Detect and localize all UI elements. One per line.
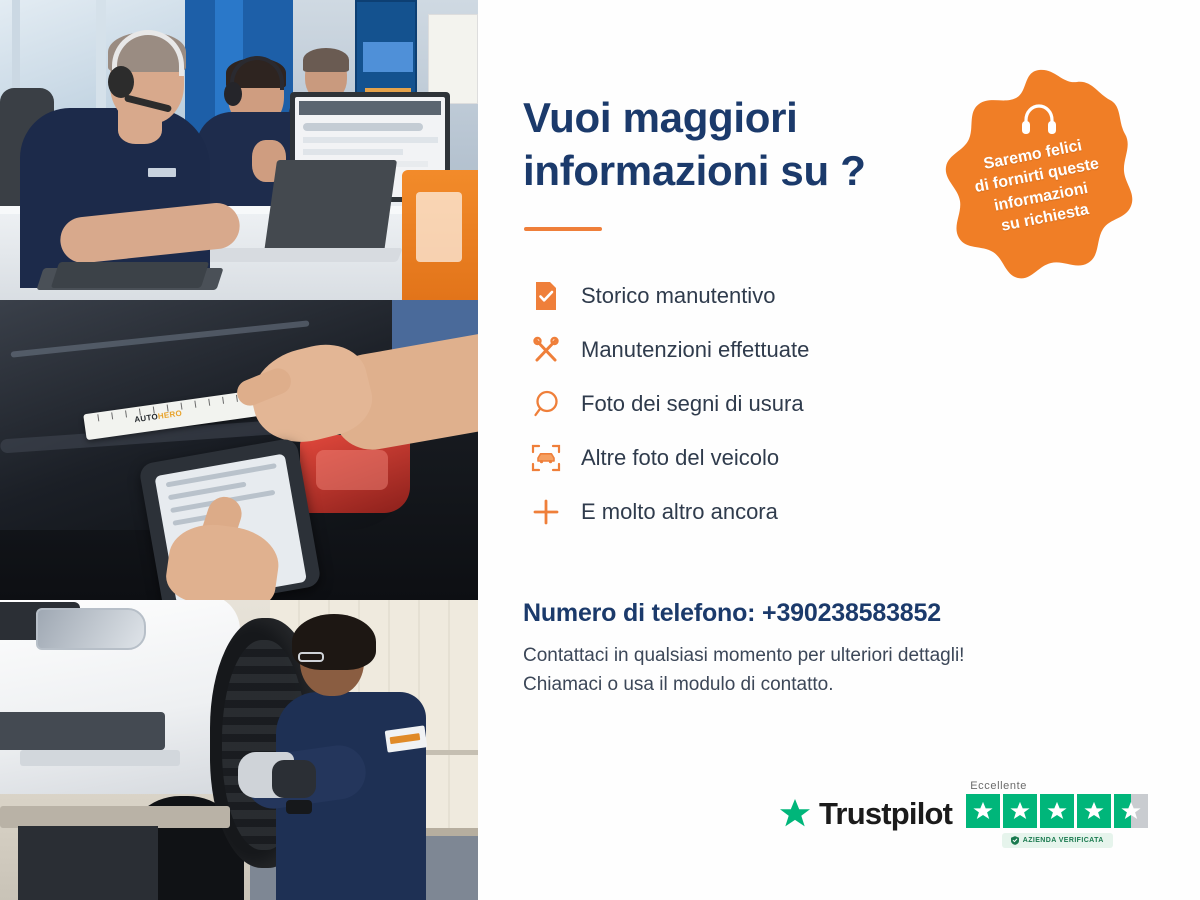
photo-call-center bbox=[0, 0, 478, 300]
headline-line-2: informazioni su ? bbox=[523, 147, 866, 194]
car-bumper-trim bbox=[20, 750, 180, 766]
feature-item-altre-foto: Altre foto del veicolo bbox=[523, 431, 1200, 485]
shield-check-icon bbox=[1011, 836, 1019, 845]
star-half bbox=[1114, 794, 1148, 828]
safety-glasses bbox=[298, 652, 324, 662]
wrist-watch bbox=[286, 800, 312, 814]
tail-light-glow bbox=[316, 450, 388, 490]
feature-label: Altre foto del veicolo bbox=[569, 445, 779, 471]
ruler-brand-hero: HERO bbox=[157, 409, 182, 421]
vehicle-lift-arm bbox=[0, 806, 230, 828]
star-full bbox=[1077, 794, 1111, 828]
promo-banner: AUTOHERO bbox=[0, 0, 1200, 900]
feature-label: Manutenzioni effettuate bbox=[569, 337, 809, 363]
feature-label: Foto dei segni di usura bbox=[569, 391, 804, 417]
wall-notice bbox=[428, 14, 478, 104]
document-check-icon bbox=[523, 281, 569, 311]
ruler-brand-auto: AUTO bbox=[134, 412, 159, 424]
agent-body bbox=[20, 108, 210, 288]
trustpilot-wordmark: Trustpilot bbox=[819, 796, 952, 832]
trustpilot-block[interactable]: Trustpilot Eccellente AZIENDA VERIFICA bbox=[778, 780, 1148, 848]
mechanic-glove bbox=[272, 760, 316, 798]
car-headlight bbox=[36, 608, 146, 650]
laptop-screen bbox=[263, 160, 397, 260]
star-full bbox=[1003, 794, 1037, 828]
orange-equipment bbox=[402, 170, 478, 300]
verified-company-badge: AZIENDA VERIFICATA bbox=[1002, 833, 1113, 848]
feature-item-altro: E molto altro ancora bbox=[523, 485, 1200, 539]
polo-logo bbox=[148, 168, 176, 177]
verified-label: AZIENDA VERIFICATA bbox=[1023, 837, 1104, 844]
feature-item-foto-usura: Foto dei segni di usura bbox=[523, 377, 1200, 431]
page-title: Vuoi maggiori informazioni su ? bbox=[523, 92, 953, 197]
photo-wheel-inspection bbox=[0, 600, 478, 900]
headset-earcup bbox=[108, 66, 134, 98]
car-scan-icon bbox=[523, 443, 569, 473]
feature-label: E molto altro ancora bbox=[569, 499, 778, 525]
contact-line-2: Chiamaci o usa il modulo di contatto. bbox=[523, 674, 834, 695]
keyboard bbox=[51, 262, 209, 288]
info-on-request-badge: Saremo felici di fornirti queste informa… bbox=[938, 66, 1140, 292]
plus-icon bbox=[523, 497, 569, 527]
laptop-base bbox=[197, 248, 403, 262]
headline-line-1: Vuoi maggiori bbox=[523, 94, 798, 141]
tools-icon bbox=[523, 335, 569, 365]
headset-icon bbox=[1019, 102, 1059, 138]
star-rating bbox=[966, 794, 1148, 828]
contact-line-1: Contattaci in qualsiasi momento per ulte… bbox=[523, 645, 964, 666]
car-lower-grille bbox=[0, 712, 165, 750]
phone-number-label[interactable]: Numero di telefono: +390238583852 bbox=[523, 599, 1200, 628]
feature-list: Storico manutentivo Manutenzioni effettu… bbox=[523, 269, 1200, 539]
headset-earcup bbox=[224, 82, 242, 106]
trustpilot-logo: Trustpilot bbox=[778, 796, 952, 832]
title-divider bbox=[524, 227, 602, 231]
trustpilot-rating: Eccellente AZIENDA VERIFICATA bbox=[966, 780, 1148, 848]
star-full bbox=[966, 794, 1000, 828]
rating-label: Eccellente bbox=[966, 780, 1027, 792]
photo-body-measurement: AUTOHERO bbox=[0, 300, 478, 600]
agent-hair bbox=[303, 48, 349, 72]
magnifier-icon bbox=[523, 389, 569, 419]
vehicle-lift-post bbox=[18, 826, 158, 900]
feature-item-manutenzioni: Manutenzioni effettuate bbox=[523, 323, 1200, 377]
star-full bbox=[1040, 794, 1074, 828]
contact-description: Contattaci in qualsiasi momento per ulte… bbox=[523, 641, 1200, 700]
photo-column: AUTOHERO bbox=[0, 0, 478, 900]
feature-label: Storico manutentivo bbox=[569, 283, 775, 309]
trustpilot-star-icon bbox=[778, 797, 812, 831]
